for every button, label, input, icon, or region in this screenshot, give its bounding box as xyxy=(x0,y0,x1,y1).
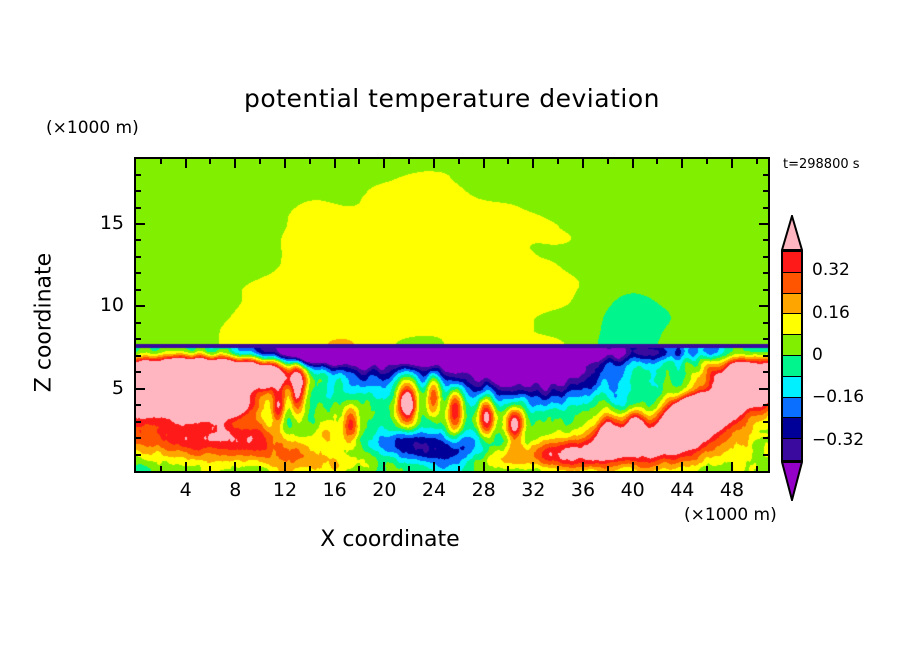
x-axis-tick xyxy=(557,466,559,471)
y-axis-tick xyxy=(763,371,768,373)
y-axis-tick xyxy=(763,207,768,209)
colorbar-tick-label: 0 xyxy=(812,345,823,365)
colorbar-band xyxy=(783,439,801,460)
y-axis-tick xyxy=(136,437,141,439)
y-axis-tick xyxy=(136,272,141,274)
y-axis-tick xyxy=(763,272,768,274)
y-axis-tick xyxy=(763,338,768,340)
y-axis-tick xyxy=(763,322,768,324)
y-tick-label: 10 xyxy=(64,294,124,316)
y-axis-title: Z coordinate xyxy=(32,213,57,433)
x-axis-tick xyxy=(731,462,733,471)
page-title: potential temperature deviation xyxy=(0,84,904,113)
colorbar-bands xyxy=(781,250,803,462)
x-axis-tick xyxy=(433,462,435,471)
y-axis-tick xyxy=(763,437,768,439)
x-axis-tick xyxy=(632,159,634,168)
x-axis-tick xyxy=(483,462,485,471)
y-axis-tick xyxy=(136,256,141,258)
x-axis-tick xyxy=(259,159,261,164)
colorbar-over-arrow-icon xyxy=(781,215,803,251)
y-axis-tick xyxy=(136,190,141,192)
x-axis-tick xyxy=(358,159,360,164)
y-axis-tick xyxy=(763,174,768,176)
colorbar-band xyxy=(783,252,801,273)
x-axis-tick xyxy=(383,159,385,168)
x-axis-tick xyxy=(334,462,336,471)
y-axis-tick xyxy=(136,371,141,373)
x-axis-tick xyxy=(309,466,311,471)
x-axis-tick xyxy=(632,462,634,471)
y-axis-tick xyxy=(763,355,768,357)
colorbar xyxy=(781,215,803,500)
x-axis-tick xyxy=(706,159,708,164)
colorbar-band xyxy=(783,273,801,294)
colorbar-band xyxy=(783,356,801,377)
y-axis-tick xyxy=(136,289,141,291)
x-axis-tick xyxy=(507,466,509,471)
y-axis-tick xyxy=(136,355,141,357)
x-axis-tick xyxy=(408,466,410,471)
x-axis-tick xyxy=(408,159,410,164)
colorbar-band xyxy=(783,314,801,335)
y-axis-tick xyxy=(136,305,145,307)
x-axis-tick xyxy=(334,159,336,168)
y-axis-tick xyxy=(136,421,141,423)
x-axis-tick xyxy=(160,159,162,164)
x-axis-tick xyxy=(607,159,609,164)
colorbar-tick-label: −0.32 xyxy=(812,430,864,450)
x-axis-tick xyxy=(458,466,460,471)
x-axis-tick xyxy=(731,159,733,168)
colorbar-under-arrow-icon xyxy=(781,461,803,501)
y-axis-tick xyxy=(763,190,768,192)
x-axis-tick xyxy=(458,159,460,164)
y-axis-tick xyxy=(763,421,768,423)
x-axis-tick xyxy=(284,159,286,168)
x-axis-tick xyxy=(681,159,683,168)
y-axis-tick xyxy=(136,223,145,225)
colorbar-band xyxy=(783,335,801,356)
y-axis-units-label: (×1000 m) xyxy=(46,118,139,138)
y-tick-label: 5 xyxy=(64,377,124,399)
x-axis-units-label: (×1000 m) xyxy=(684,505,777,525)
y-axis-tick xyxy=(763,289,768,291)
y-axis-tick xyxy=(759,305,768,307)
x-axis-title: X coordinate xyxy=(0,527,780,552)
x-axis-tick xyxy=(234,462,236,471)
y-axis-tick xyxy=(763,404,768,406)
x-axis-tick xyxy=(507,159,509,164)
x-axis-tick xyxy=(160,466,162,471)
x-axis-tick xyxy=(656,159,658,164)
y-axis-tick xyxy=(759,388,768,390)
x-axis-tick xyxy=(185,462,187,471)
x-axis-tick xyxy=(557,159,559,164)
time-annotation: t=298800 s xyxy=(783,157,860,172)
x-axis-tick xyxy=(483,159,485,168)
y-tick-label: 15 xyxy=(64,212,124,234)
temperature-deviation-field xyxy=(136,159,768,471)
y-axis-tick xyxy=(136,404,141,406)
x-axis-tick xyxy=(259,466,261,471)
colorbar-band xyxy=(783,398,801,419)
x-axis-tick xyxy=(706,466,708,471)
colorbar-tick-label: 0.32 xyxy=(812,260,850,280)
x-axis-tick xyxy=(582,159,584,168)
y-axis-tick xyxy=(136,207,141,209)
y-axis-tick xyxy=(763,256,768,258)
x-axis-tick xyxy=(433,159,435,168)
x-axis-tick xyxy=(284,462,286,471)
x-axis-tick xyxy=(681,462,683,471)
x-axis-tick xyxy=(532,159,534,168)
colorbar-band xyxy=(783,377,801,398)
x-axis-tick xyxy=(582,462,584,471)
colorbar-tick-label: 0.16 xyxy=(812,303,850,323)
x-axis-tick xyxy=(383,462,385,471)
x-axis-tick xyxy=(607,466,609,471)
x-axis-tick xyxy=(309,159,311,164)
x-axis-tick xyxy=(234,159,236,168)
x-axis-tick xyxy=(185,159,187,168)
colorbar-band xyxy=(783,294,801,315)
y-axis-tick xyxy=(759,223,768,225)
x-tick-label: 48 xyxy=(702,479,762,501)
y-axis-tick xyxy=(136,388,145,390)
contour-plot-area xyxy=(134,157,770,473)
x-axis-tick xyxy=(656,466,658,471)
x-axis-tick xyxy=(756,159,758,164)
y-axis-tick xyxy=(763,239,768,241)
colorbar-band xyxy=(783,418,801,439)
y-axis-tick xyxy=(136,174,141,176)
x-axis-tick xyxy=(532,462,534,471)
colorbar-tick-label: −0.16 xyxy=(812,387,864,407)
x-axis-tick xyxy=(209,466,211,471)
y-axis-tick xyxy=(136,454,141,456)
x-axis-tick xyxy=(358,466,360,471)
y-axis-tick xyxy=(136,338,141,340)
x-axis-tick xyxy=(756,466,758,471)
y-axis-tick xyxy=(763,454,768,456)
y-axis-tick xyxy=(136,239,141,241)
y-axis-tick xyxy=(136,322,141,324)
x-axis-tick xyxy=(209,159,211,164)
